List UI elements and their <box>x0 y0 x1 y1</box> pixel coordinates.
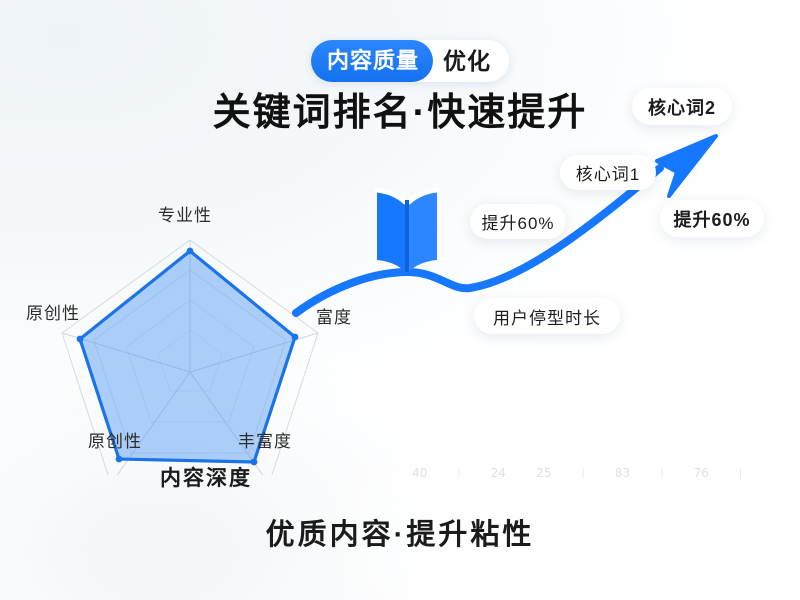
radar-axis-label-1: 富度 <box>316 303 352 328</box>
axis-ruler: 40 | 24 25 | 83 | 76 | <box>412 462 742 484</box>
radar-chart-svg <box>20 185 370 475</box>
radar-chart: 专业性 富度 丰富度 原创性 原创性 <box>20 185 370 475</box>
chip-uplift-left[interactable]: 提升60% <box>470 204 566 239</box>
ruler-tick-6: | <box>660 467 663 479</box>
ruler-tick-7: 76 <box>694 466 709 480</box>
ruler-tick-8: | <box>739 467 742 479</box>
radar-caption: 内容深度 <box>160 462 252 492</box>
poster-canvas: 内容质量 优化 关键词排名·快速提升 <box>0 0 800 600</box>
radar-axis-label-3: 原创性 <box>88 427 142 452</box>
ruler-tick-4: | <box>582 467 585 479</box>
radar-axis-label-2: 丰富度 <box>238 427 292 452</box>
badge-primary-label: 内容质量 <box>311 40 433 82</box>
chip-dwell-time[interactable]: 用户停型时长 <box>474 298 620 334</box>
quality-badge: 内容质量 优化 <box>311 40 509 82</box>
ruler-tick-0: 40 <box>412 466 427 480</box>
ruler-tick-3: 25 <box>536 466 551 480</box>
chip-uplift-right[interactable]: 提升60% <box>660 200 764 237</box>
ruler-tick-2: 24 <box>491 466 506 480</box>
radar-axis-label-0: 专业性 <box>158 201 212 226</box>
footer-title: 优质内容·提升粘性 <box>0 518 800 553</box>
chip-keyword-1[interactable]: 核心词1 <box>560 155 656 190</box>
ruler-tick-1: | <box>458 467 461 479</box>
chip-keyword-2[interactable]: 核心词2 <box>632 88 732 125</box>
ruler-tick-5: 83 <box>615 466 630 480</box>
badge-secondary-label: 优化 <box>437 42 503 80</box>
open-book-icon <box>372 186 442 274</box>
radar-axis-label-4: 原创性 <box>26 299 80 324</box>
